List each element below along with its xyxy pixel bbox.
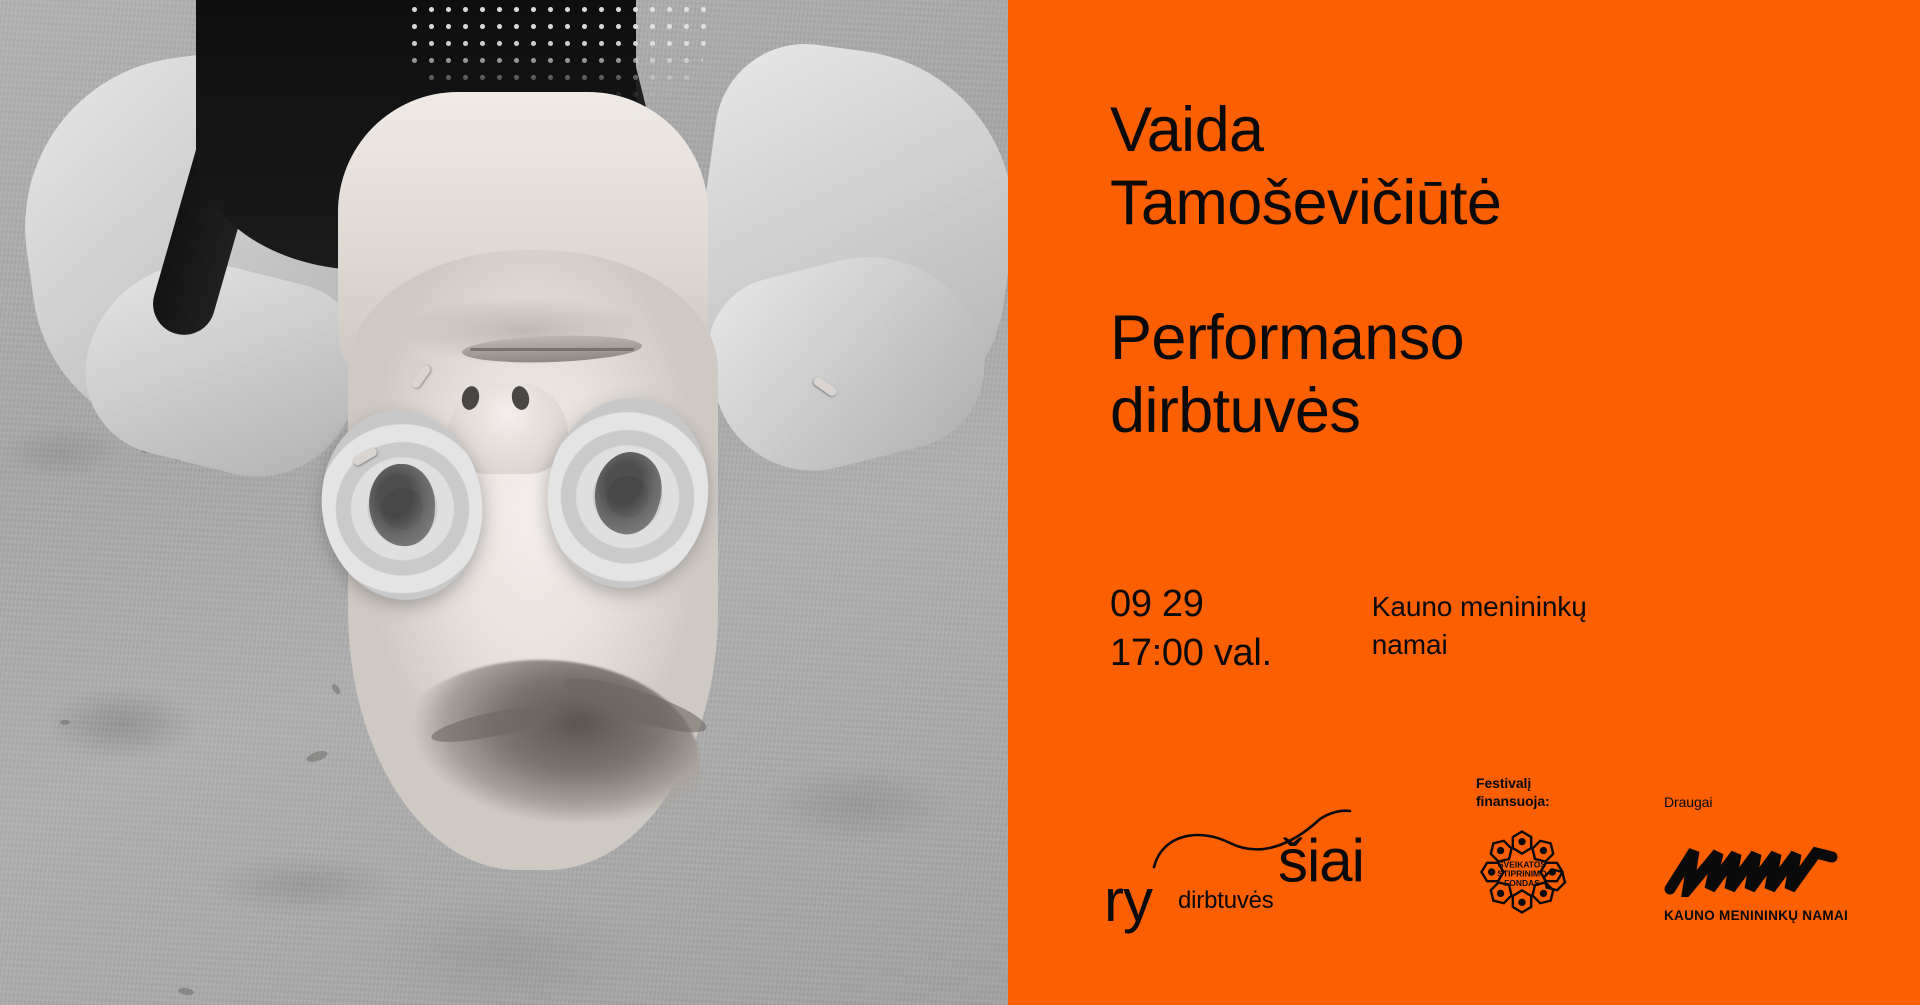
partner-block: Draugai KAUNO MENININKŲ NAMAI — [1664, 793, 1920, 923]
rysiai-dirbtuves-logo[interactable]: ry šiai dirbtuvės — [1104, 809, 1364, 919]
logo-subtitle-dirbtuves: dirbtuvės — [1178, 889, 1274, 913]
logo-part-ry: ry — [1104, 871, 1152, 931]
when-and-where: 09 29 17:00 val. Kauno menininkų namai — [1110, 580, 1587, 677]
logo-row: ry šiai dirbtuvės Festivalį finansuoja: — [1104, 783, 1880, 923]
artist-name: Vaida Tamoševičiūtė — [1110, 94, 1501, 240]
performance-photo — [0, 0, 1008, 1005]
kmn-caption: KAUNO MENININKŲ NAMAI — [1664, 908, 1920, 923]
event-venue: Kauno menininkų namai — [1372, 580, 1587, 664]
title-block: Vaida Tamoševičiūtė Performanso dirbtuvė… — [1110, 94, 1501, 448]
hair — [380, 660, 700, 870]
mouth-line — [470, 348, 634, 351]
event-title: Performanso dirbtuvės — [1110, 302, 1501, 448]
event-datetime: 09 29 17:00 val. — [1110, 580, 1272, 677]
garment-studs — [406, 0, 706, 100]
performer-figure — [0, 0, 1008, 1005]
pastry-filling — [368, 463, 437, 547]
logo-part-siai: šiai — [1278, 831, 1364, 891]
partner-label: Draugai — [1664, 793, 1920, 811]
pastry-filling — [584, 444, 671, 542]
fondas-text-line3: FONDAS — [1504, 878, 1540, 888]
funder-label: Festivalį finansuoja: — [1476, 774, 1646, 810]
funder-block: Festivalį finansuoja: — [1476, 774, 1646, 923]
kmn-zigzag-logo-icon[interactable] — [1664, 839, 1840, 897]
event-poster: Vaida Tamoševičiūtė Performanso dirbtuvė… — [0, 0, 1920, 1005]
info-panel: Vaida Tamoševičiūtė Performanso dirbtuvė… — [1008, 0, 1920, 1005]
sveikatos-stiprinimo-fondas-logo-icon[interactable]: SVEIKATOS STIPRINIMO FONDAS — [1476, 826, 1568, 918]
